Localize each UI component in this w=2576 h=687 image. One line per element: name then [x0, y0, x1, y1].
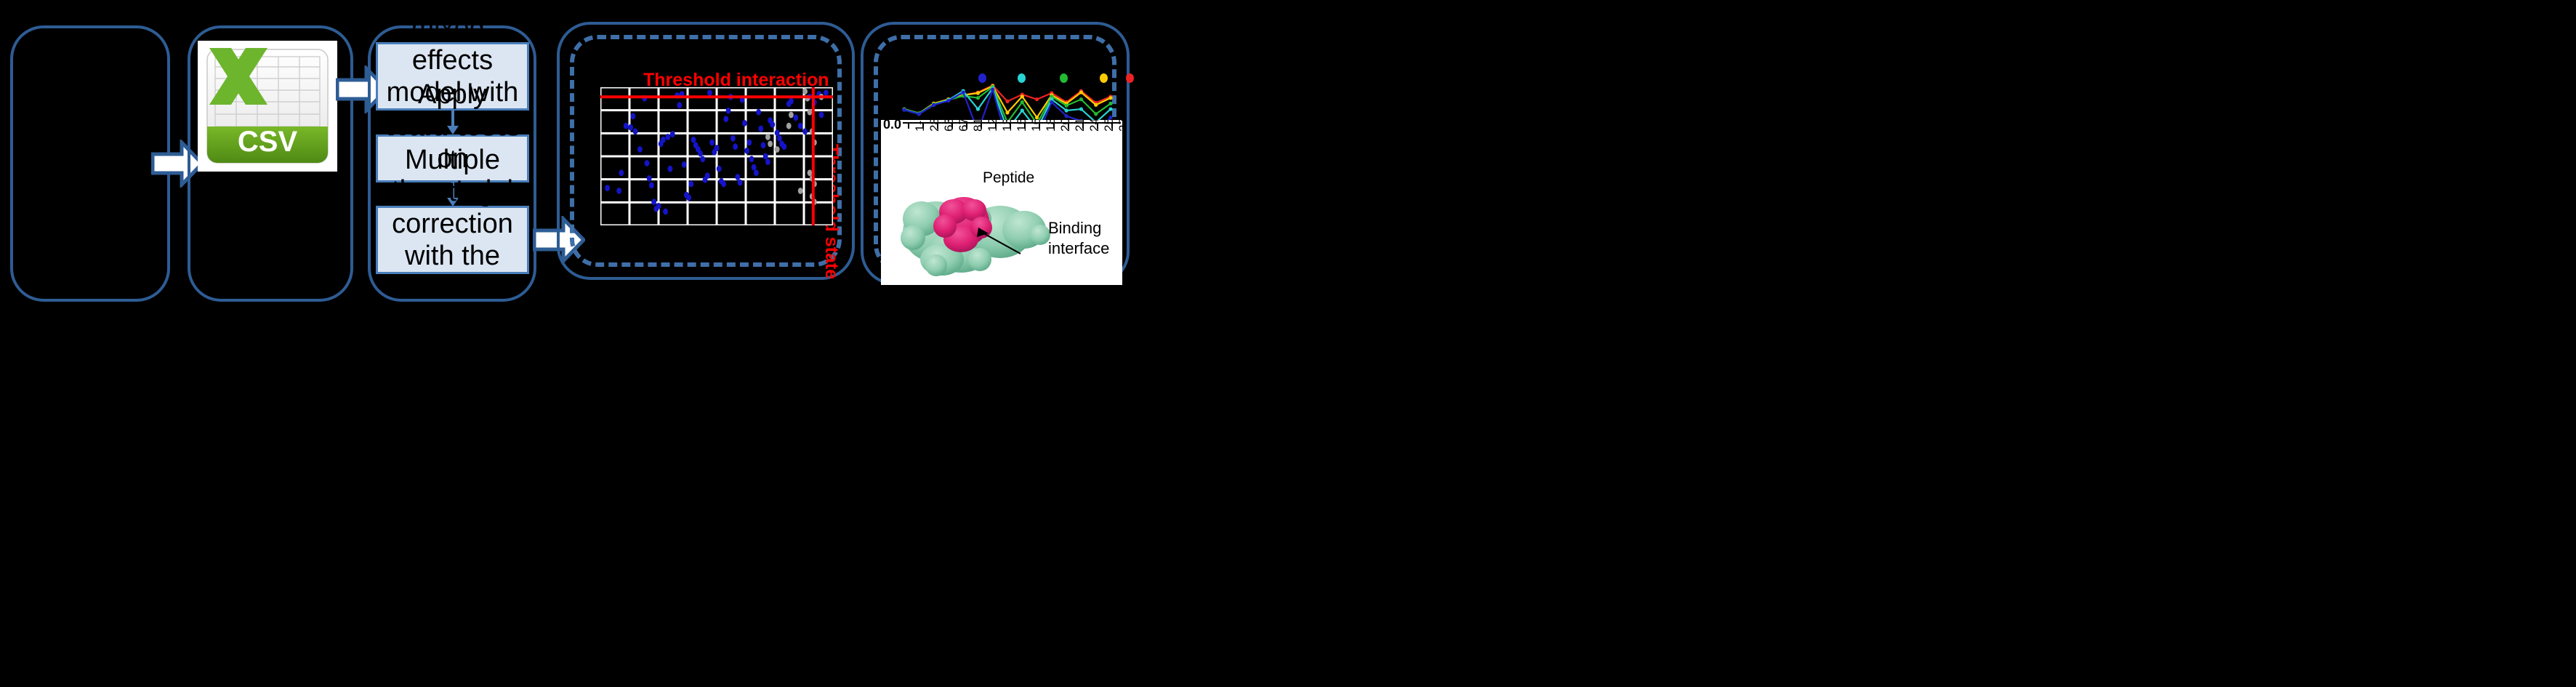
csv-file-icon[interactable]: CSV [198, 41, 337, 172]
scatter-plot[interactable] [600, 87, 833, 225]
peptide-tick-label: 258-266 [1102, 120, 1116, 132]
peptide-tick-label: 184-199 [1044, 120, 1058, 132]
protein-structure-render[interactable] [891, 190, 1066, 281]
peptide-tick-label: 277-284 [1116, 120, 1122, 132]
peptide-tick-label: 218-237 [1073, 120, 1087, 132]
legend-dot-red [1126, 73, 1134, 83]
peptide-tick-label: 167-180 [1029, 120, 1044, 132]
peptide-tick-label: 135-144 [1000, 120, 1015, 132]
binding-interface-line1: Binding [1048, 218, 1109, 238]
seg-bold-bh: BH [432, 273, 472, 303]
peptide-tick-label: 1-15 [913, 120, 927, 132]
pipeline-diagram: CSV Fit a linear mixed- effects model wi… [0, 0, 2576, 687]
seg-plain: Fit a linear mixed- [388, 0, 517, 44]
seg-bold-wald: Wald tests [384, 111, 521, 142]
seg-plain: correction [392, 209, 513, 239]
peptide-axis-title: Peptide [983, 169, 1034, 187]
peptide-tick-label: 81-101 [971, 120, 986, 132]
seg-plain: Apply [418, 79, 487, 110]
peptide-tick-label: 63-73 [942, 120, 957, 132]
binding-interface-line2: interface [1048, 238, 1109, 259]
peptide-tick-label: 200-214 [1058, 120, 1073, 132]
binding-interface-label: Binding interface [1048, 218, 1109, 258]
legend-dot-green [1060, 73, 1068, 83]
peptide-tick-label: 122-129 [986, 120, 1000, 132]
legend-dot-yellow [1100, 73, 1108, 83]
seg-plain: with the [405, 241, 500, 271]
input-data-panel[interactable] [10, 25, 170, 302]
peptide-tick-label: 67-75 [957, 120, 971, 132]
seg-plain: procedure [390, 305, 515, 335]
legend-dot-blue [978, 73, 986, 83]
peptide-result-card[interactable]: 0.0 1-1528-4463-73 [881, 120, 1122, 285]
peptide-tick-label: 28-44 [927, 120, 942, 132]
peptide-tick-label: 241-257 [1087, 120, 1102, 132]
csv-icon-text: CSV [238, 126, 298, 158]
step-multiple-testing-text: Multiple testing correction with the BH … [382, 144, 523, 336]
legend-dot-cyan [1018, 73, 1026, 83]
step-multiple-testing[interactable]: Multiple testing correction with the BH … [376, 206, 529, 274]
peptide-tick-label: 158-166 [1015, 120, 1029, 132]
seg-plain: Multiple testing [405, 145, 500, 207]
